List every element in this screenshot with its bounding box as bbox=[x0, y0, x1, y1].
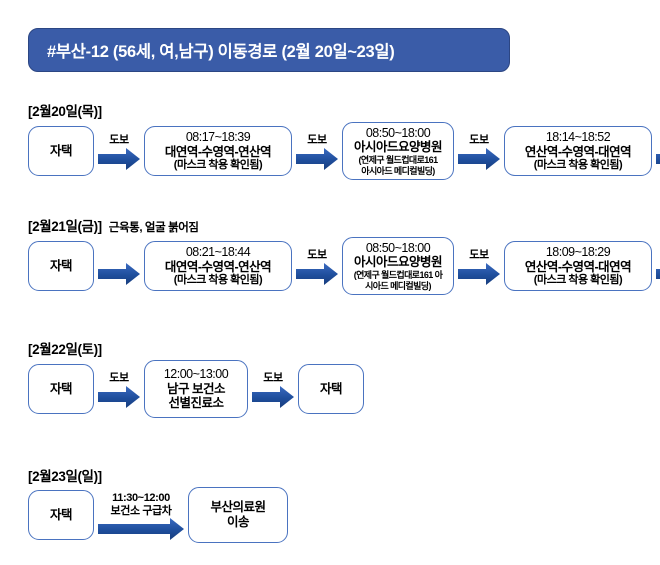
arrow-right-icon bbox=[458, 148, 500, 168]
flow-node-line: 자택 bbox=[50, 382, 72, 397]
page-title-banner: #부산-12 (56세, 여,남구) 이동경로 (2월 20일~23일) bbox=[28, 28, 510, 72]
arrow-right-icon bbox=[296, 148, 338, 168]
arrow-right-icon bbox=[98, 263, 140, 283]
flow-node-line: 자택 bbox=[320, 382, 342, 397]
flow-node-line: 남구 보건소 bbox=[167, 382, 225, 397]
flow-connector-label: 도보 bbox=[469, 249, 488, 262]
flow-connector-label: 도보 bbox=[469, 134, 488, 147]
flow-node: 자택 bbox=[28, 126, 94, 176]
flow-node-line: 연산역-수영역-대연역 bbox=[525, 260, 631, 275]
day-label: [2월20일(목)] bbox=[28, 100, 102, 120]
flow-connector: 도보 bbox=[656, 134, 660, 168]
flow-connector: 도보 bbox=[458, 249, 500, 283]
flow-connector-label: 도보 bbox=[307, 134, 326, 147]
flow-node-line: 자택 bbox=[50, 144, 72, 159]
flow-node-line: 선별진료소 bbox=[168, 396, 223, 411]
flow-connector: 도보 bbox=[656, 249, 660, 283]
flow-connector bbox=[98, 249, 140, 283]
flow-node-line: 자택 bbox=[50, 508, 72, 523]
flow-node: 12:00~13:00남구 보건소선별진료소 bbox=[144, 360, 248, 418]
day-flow-row: 자택 08:21~18:44대연역-수영역-연산역(마스크 착용 확인됨)도보0… bbox=[28, 237, 660, 295]
arrow-right-icon bbox=[98, 386, 140, 406]
flow-connector-label: 11:30~12:00보건소 구급차 bbox=[111, 492, 172, 517]
flow-node: 08:21~18:44대연역-수영역-연산역(마스크 착용 확인됨) bbox=[144, 241, 292, 291]
day-label: [2월21일(금)] bbox=[28, 215, 102, 235]
flow-node-line: 아시아드요양병원 bbox=[354, 140, 442, 155]
flow-connector: 도보 bbox=[98, 372, 140, 406]
flow-node-line: 08:21~18:44 bbox=[186, 245, 250, 260]
flow-node-line: 이송 bbox=[227, 515, 249, 530]
flow-node-line: 08:50~18:00 bbox=[366, 241, 430, 256]
arrow-right-icon bbox=[458, 263, 500, 283]
day-header: [2월20일(목)] bbox=[28, 100, 102, 120]
flow-node-line: (연제구 월드컵대로161 bbox=[359, 155, 438, 166]
day-flow-row: 자택11:30~12:00보건소 구급차부산의료원이송 bbox=[28, 487, 288, 543]
flow-node: 자택 bbox=[298, 364, 364, 414]
flow-connector-label: 도보 bbox=[307, 249, 326, 262]
arrow-right-icon bbox=[656, 148, 660, 168]
arrow-right-icon bbox=[252, 386, 294, 406]
flow-connector-label: 도보 bbox=[263, 372, 282, 385]
flow-node-line: 대연역-수영역-연산역 bbox=[165, 260, 271, 275]
flow-node-line: 아시아드요양병원 bbox=[354, 255, 442, 270]
arrow-right-icon bbox=[98, 148, 140, 168]
flow-connector: 도보 bbox=[296, 249, 338, 283]
flow-connector: 도보 bbox=[458, 134, 500, 168]
flow-connector-label: 도보 bbox=[109, 134, 128, 147]
flow-connector: 11:30~12:00보건소 구급차 bbox=[98, 492, 184, 537]
arrow-right-icon bbox=[656, 263, 660, 283]
day-header: [2월23일(일)] bbox=[28, 465, 102, 485]
flow-node: 08:17~18:39대연역-수영역-연산역(마스크 착용 확인됨) bbox=[144, 126, 292, 176]
day-label: [2월23일(일)] bbox=[28, 465, 102, 485]
flow-node: 08:50~18:00아시아드요양병원(연제구 월드컵대로161 아시아드 메디… bbox=[342, 237, 454, 295]
day-label: [2월22일(토)] bbox=[28, 338, 102, 358]
flow-node-line: 08:17~18:39 bbox=[186, 130, 250, 145]
page-title: #부산-12 (56세, 여,남구) 이동경로 (2월 20일~23일) bbox=[47, 38, 395, 62]
flow-node: 자택 bbox=[28, 364, 94, 414]
arrow-right-icon bbox=[98, 518, 184, 538]
flow-connector: 도보 bbox=[252, 372, 294, 406]
flow-node: 18:09~18:29연산역-수영역-대연역(마스크 착용 확인됨) bbox=[504, 241, 652, 291]
flow-connector: 도보 bbox=[296, 134, 338, 168]
flow-node-line: (마스크 착용 확인됨) bbox=[534, 274, 622, 287]
flow-node-line: (마스크 착용 확인됨) bbox=[534, 159, 622, 172]
flow-node-line: 12:00~13:00 bbox=[164, 367, 228, 382]
flow-connector-label: 도보 bbox=[109, 372, 128, 385]
flow-node-line: 08:50~18:00 bbox=[366, 126, 430, 141]
flow-node-line: 연산역-수영역-대연역 bbox=[525, 145, 631, 160]
flow-node-line: 18:14~18:52 bbox=[546, 130, 610, 145]
flow-node-line: 아시아드 메디컬빌딩) bbox=[361, 166, 434, 177]
flow-node-line: 자택 bbox=[50, 259, 72, 274]
flow-node: 18:14~18:52연산역-수영역-대연역(마스크 착용 확인됨) bbox=[504, 126, 652, 176]
flow-node-line: 부산의료원 bbox=[210, 500, 265, 515]
flow-node-line: (마스크 착용 확인됨) bbox=[174, 274, 262, 287]
day-flow-row: 자택도보12:00~13:00남구 보건소선별진료소도보자택 bbox=[28, 360, 364, 418]
flow-node: 08:50~18:00아시아드요양병원(연제구 월드컵대로161아시아드 메디컬… bbox=[342, 122, 454, 180]
flow-connector: 도보 bbox=[98, 134, 140, 168]
arrow-right-icon bbox=[296, 263, 338, 283]
flow-node-line: 18:09~18:29 bbox=[546, 245, 610, 260]
day-header: [2월21일(금)]근육통, 얼굴 붉어짐 bbox=[28, 215, 199, 235]
flow-node-line: 대연역-수영역-연산역 bbox=[165, 145, 271, 160]
flow-node-line: (연제구 월드컵대로161 아 bbox=[354, 270, 443, 281]
day-flow-row: 자택도보08:17~18:39대연역-수영역-연산역(마스크 착용 확인됨)도보… bbox=[28, 122, 660, 180]
day-header: [2월22일(토)] bbox=[28, 338, 102, 358]
day-symptom: 근육통, 얼굴 붉어짐 bbox=[109, 219, 199, 235]
flow-node-line: (마스크 착용 확인됨) bbox=[174, 159, 262, 172]
flow-node: 부산의료원이송 bbox=[188, 487, 288, 543]
flow-node: 자택 bbox=[28, 241, 94, 291]
flow-node-line: 시아드 메디컬빌딩) bbox=[365, 281, 431, 292]
flow-node: 자택 bbox=[28, 490, 94, 540]
